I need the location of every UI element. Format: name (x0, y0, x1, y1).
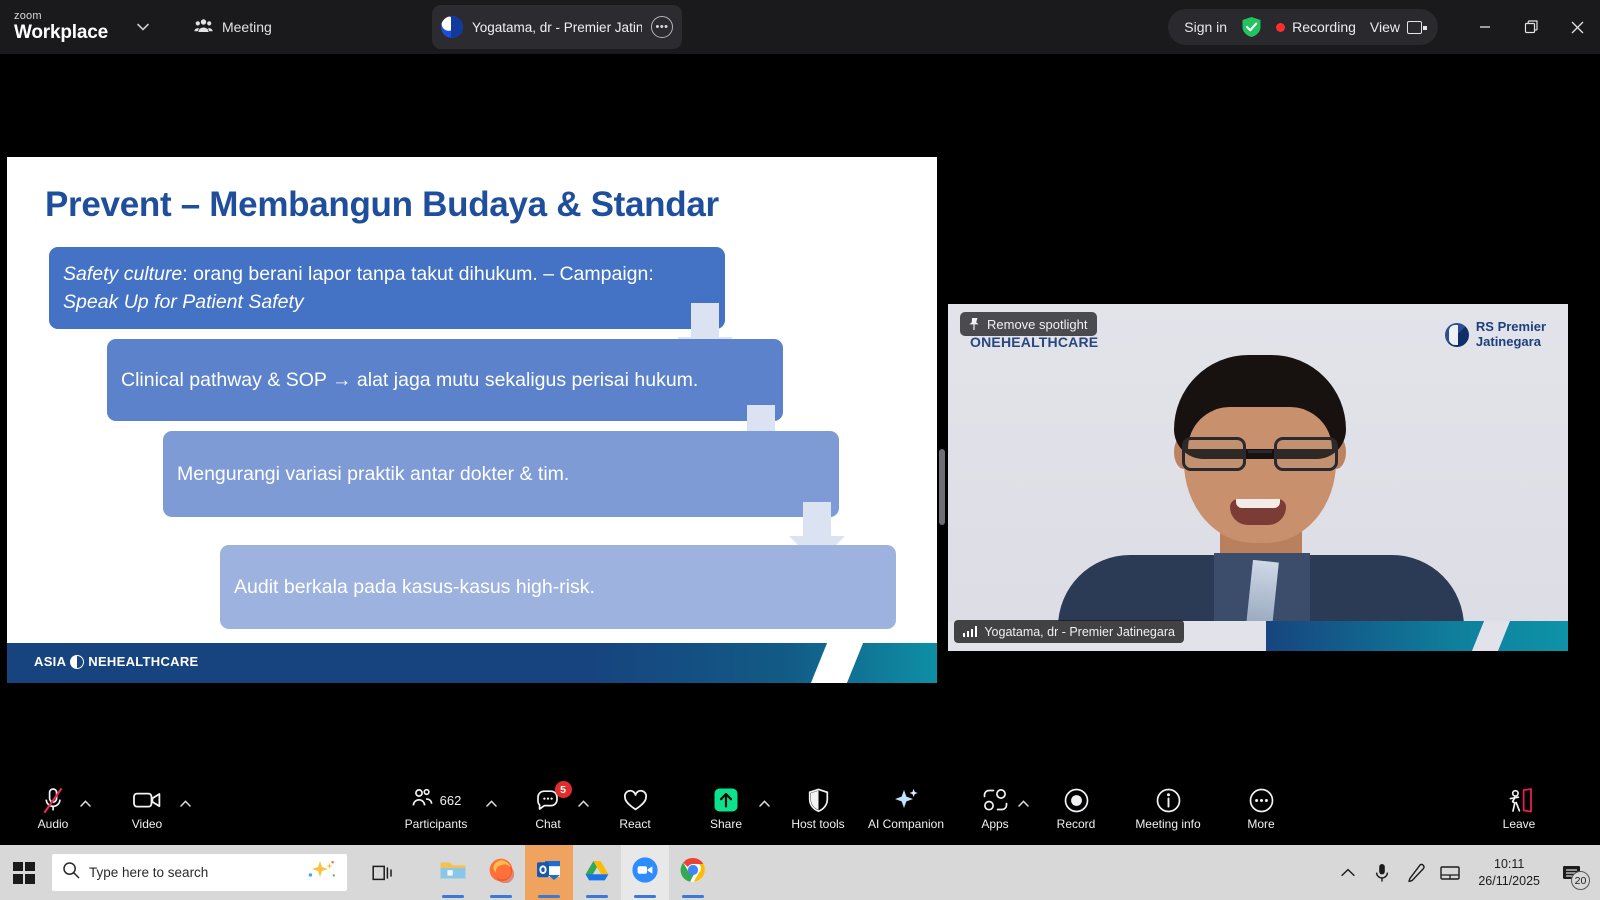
onehealthcare-ring-icon (70, 655, 84, 669)
slide-box-4-text: Audit berkala pada kasus-kasus high-risk… (234, 573, 595, 601)
apps-icon (982, 786, 1009, 814)
speaker-person-figure (1096, 351, 1426, 651)
chevron-up-icon[interactable] (1332, 845, 1364, 900)
slide-title: Prevent – Membangun Budaya & Standar (45, 185, 885, 225)
divider-grip-handle[interactable] (939, 449, 945, 525)
remove-spotlight-button[interactable]: Remove spotlight (960, 312, 1097, 336)
taskbar-app-zoom[interactable] (621, 845, 669, 900)
slide-box-2-text: Clinical pathway & SOP → alat jaga mutu … (121, 366, 698, 394)
layout-icon (1407, 21, 1422, 34)
zoom-meeting-icon (441, 16, 463, 38)
taskbar-app-outlook[interactable] (525, 845, 573, 900)
clock-date: 26/11/2025 (1478, 873, 1540, 890)
tab-active-label: Yogatama, dr - Premier Jatinegara (472, 20, 642, 35)
sparkle-icon (893, 786, 919, 814)
slide-box-1-text: Safety culture: orang berani lapor tanpa… (63, 260, 711, 317)
microphone-icon[interactable] (1366, 845, 1398, 900)
clock-time: 10:11 (1478, 856, 1540, 873)
meeting-stage: Prevent – Membangun Budaya & Standar Saf… (0, 54, 1600, 780)
shield-icon (808, 786, 829, 814)
rs-premier-orb-icon (1445, 323, 1469, 347)
participants-icon (411, 788, 434, 813)
video-logo-right-line2: Jatinegara (1476, 335, 1546, 350)
control-host-tools-label: Host tools (791, 817, 844, 831)
recording-indicator[interactable]: Recording (1276, 19, 1356, 35)
info-icon (1156, 786, 1181, 814)
record-circle-icon (1064, 786, 1089, 814)
taskbar-clock[interactable]: 10:11 26/11/2025 (1468, 856, 1550, 890)
control-react-label: React (619, 817, 650, 831)
search-input[interactable]: Type here to search (52, 854, 347, 891)
video-logo-rs-premier: RS Premier Jatinegara (1445, 320, 1546, 349)
pin-icon (968, 317, 980, 331)
control-react[interactable]: React (612, 786, 658, 840)
system-tray: 10:11 26/11/2025 20 (1332, 845, 1600, 900)
participants-options-chevron-icon[interactable] (486, 798, 497, 810)
video-tile-speaker[interactable]: ASIA ONEHEALTHCARE RS Premier Jatinegara (948, 304, 1568, 651)
control-video[interactable]: Video (124, 786, 170, 840)
control-chat-label: Chat (535, 817, 560, 831)
remove-spotlight-label: Remove spotlight (987, 317, 1087, 332)
signal-bars-icon (963, 626, 977, 637)
control-meeting-info-label: Meeting info (1135, 817, 1200, 831)
control-share[interactable]: Share (703, 786, 749, 840)
video-options-chevron-icon[interactable] (180, 798, 191, 810)
firefox-icon (488, 857, 514, 888)
zoom-workplace-logo: zoom Workplace (14, 11, 108, 42)
shared-screen-slide[interactable]: Prevent – Membangun Budaya & Standar Saf… (7, 157, 937, 683)
people-group-icon (194, 18, 213, 37)
control-record-label: Record (1057, 817, 1096, 831)
folder-icon (439, 858, 467, 887)
chat-unread-badge: 5 (555, 781, 572, 798)
zoom-icon (631, 856, 659, 889)
taskbar-app-google-drive[interactable] (573, 845, 621, 900)
windows-taskbar: Type here to search (0, 845, 1600, 900)
recording-label: Recording (1292, 19, 1356, 35)
share-options-chevron-icon[interactable] (759, 798, 770, 810)
control-apps[interactable]: Apps (972, 786, 1018, 840)
control-apps-label: Apps (981, 817, 1008, 831)
view-label: View (1370, 19, 1400, 35)
control-record[interactable]: Record (1053, 786, 1099, 840)
participant-name-badge: Yogatama, dr - Premier Jatinegara (954, 620, 1184, 643)
notifications-icon[interactable]: 20 (1552, 845, 1592, 900)
control-more-label: More (1247, 817, 1274, 831)
chevron-down-icon[interactable] (130, 14, 156, 40)
leave-door-icon (1506, 786, 1533, 814)
zoom-meeting-window: zoom Workplace Meeting Yogatama, dr - (0, 0, 1600, 900)
minimize-icon[interactable] (1462, 0, 1508, 54)
control-video-label: Video (132, 817, 162, 831)
participant-name-label: Yogatama, dr - Premier Jatinegara (984, 625, 1175, 639)
audio-options-chevron-icon[interactable] (80, 798, 91, 810)
sign-in-button[interactable]: Sign in (1184, 19, 1227, 35)
copilot-sparkle-icon[interactable] (305, 859, 337, 886)
control-participants[interactable]: 662 Participants (400, 786, 472, 840)
touchpad-icon[interactable] (1434, 845, 1466, 900)
pen-icon[interactable] (1400, 845, 1432, 900)
chat-bubble-icon: 5 (536, 786, 561, 814)
slide-box-1: Safety culture: orang berani lapor tanpa… (49, 247, 725, 329)
participants-count: 662 (440, 793, 462, 808)
taskbar-app-chrome[interactable] (669, 845, 717, 900)
control-meeting-info[interactable]: Meeting info (1122, 786, 1214, 840)
close-icon[interactable] (1554, 0, 1600, 54)
restore-window-icon[interactable] (1508, 0, 1554, 54)
taskbar-app-firefox[interactable] (477, 845, 525, 900)
shield-check-icon[interactable] (1241, 16, 1262, 38)
meeting-control-bar: Audio Video (0, 780, 1600, 845)
control-ai-companion[interactable]: AI Companion (862, 786, 950, 840)
slide-box-2: Clinical pathway & SOP → alat jaga mutu … (107, 339, 783, 421)
control-chat[interactable]: 5 Chat (525, 786, 571, 840)
slide-box-3: Mengurangi variasi praktik antar dokter … (163, 431, 839, 517)
tab-active-meeting[interactable]: Yogatama, dr - Premier Jatinegara ••• (432, 5, 682, 49)
control-host-tools[interactable]: Host tools (784, 786, 852, 840)
drive-icon (584, 859, 610, 887)
outlook-icon (536, 858, 562, 887)
notification-count: 20 (1571, 871, 1590, 890)
video-logo-left-line2: ONEHEALTHCARE (970, 335, 1098, 350)
search-placeholder: Type here to search (89, 865, 296, 880)
control-leave[interactable]: Leave (1496, 786, 1542, 840)
camera-icon (133, 786, 161, 814)
slide-footer-brand-post: NEHEALTHCARE (88, 654, 198, 669)
titlebar-status-pill: Sign in Recording View (1168, 9, 1438, 45)
windows-start-icon[interactable] (0, 845, 48, 900)
control-audio[interactable]: Audio (30, 786, 76, 840)
apps-options-chevron-icon[interactable] (1018, 798, 1029, 810)
tab-meeting[interactable]: Meeting (182, 9, 284, 45)
slide-box-3-text: Mengurangi variasi praktik antar dokter … (177, 460, 569, 488)
control-audio-label: Audio (38, 817, 69, 831)
recording-dot-icon (1276, 23, 1285, 32)
title-bar: zoom Workplace Meeting Yogatama, dr - (0, 0, 1600, 54)
video-logo-right-line1: RS Premier (1476, 320, 1546, 335)
chat-options-chevron-icon[interactable] (578, 798, 589, 810)
slide-box-1-italic-suffix: Speak Up for Patient Safety (63, 291, 304, 313)
heart-icon (623, 786, 648, 814)
microphone-muted-icon (41, 786, 65, 814)
control-ai-companion-label: AI Companion (868, 817, 944, 831)
search-icon (62, 861, 80, 884)
view-button[interactable]: View (1370, 19, 1422, 35)
chrome-icon (680, 857, 706, 888)
slide-box-1-mid: : orang berani lapor tanpa takut dihukum… (182, 263, 654, 285)
slide-footer-band: ASIA NEHEALTHCARE (7, 643, 937, 683)
more-horizontal-icon (1249, 786, 1274, 814)
panel-divider[interactable] (937, 157, 947, 683)
control-share-label: Share (710, 817, 742, 831)
share-screen-icon (712, 786, 740, 814)
control-more[interactable]: More (1238, 786, 1284, 840)
brand-bottom: Workplace (14, 23, 108, 43)
window-controls (1462, 0, 1600, 54)
tab-meeting-label: Meeting (222, 19, 272, 35)
slide-footer-brand-pre: ASIA (34, 654, 66, 669)
slide-footer-logo: ASIA NEHEALTHCARE (34, 654, 199, 669)
taskbar-app-file-explorer[interactable] (429, 845, 477, 900)
more-horizontal-icon[interactable]: ••• (651, 16, 673, 38)
slide-box-4: Audit berkala pada kasus-kasus high-risk… (220, 545, 896, 629)
control-participants-label: Participants (405, 817, 468, 831)
control-leave-label: Leave (1503, 817, 1536, 831)
task-view-icon[interactable] (359, 845, 407, 900)
slide-box-1-italic-prefix: Safety culture (63, 263, 182, 285)
